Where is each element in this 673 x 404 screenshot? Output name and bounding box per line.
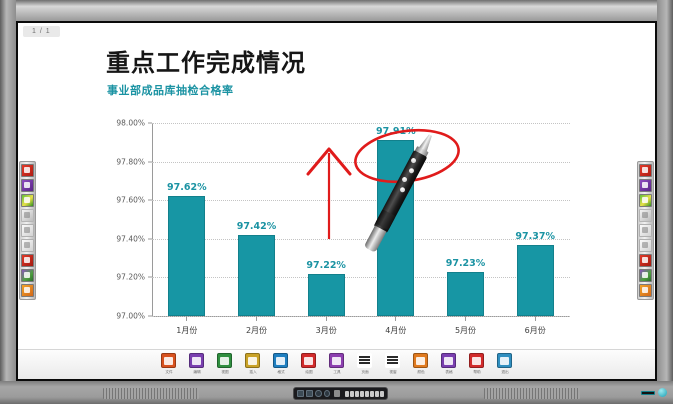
y-axis-tick-label: 97.60% bbox=[116, 196, 145, 205]
exit-menu-icon bbox=[497, 353, 512, 368]
app-bottom-toolbar[interactable]: 文件编辑视图插入格式绘图工具页面视窗颜色表格帮助退出 bbox=[18, 349, 655, 379]
table-menu[interactable]: 表格 bbox=[438, 353, 460, 375]
keyboard-tool-left[interactable] bbox=[21, 284, 34, 297]
exit-menu[interactable]: 退出 bbox=[494, 353, 516, 375]
highlighter-tool-right[interactable] bbox=[639, 179, 652, 192]
brush-tool-left[interactable] bbox=[21, 194, 34, 207]
annotation-toolbar-right[interactable] bbox=[637, 161, 654, 300]
bezel-top bbox=[0, 0, 673, 21]
x-axis-tick-label: 4月份 bbox=[361, 325, 431, 336]
bezel-left bbox=[0, 0, 16, 381]
help-menu-label: 帮助 bbox=[473, 369, 480, 375]
help-menu[interactable]: 帮助 bbox=[466, 353, 488, 375]
annotate-pen-tool-left[interactable] bbox=[21, 164, 34, 177]
page-indicator: 1 / 1 bbox=[23, 26, 60, 37]
screen-capture-tool-glyph bbox=[24, 272, 30, 278]
page-title: 重点工作完成情况 bbox=[106, 43, 306, 78]
front-control-panel[interactable] bbox=[293, 387, 388, 400]
x-axis-tick-mark bbox=[256, 316, 257, 321]
brand-bar-icon bbox=[641, 391, 655, 395]
annotate-pen-tool-right[interactable] bbox=[639, 164, 652, 177]
brush-tool-right[interactable] bbox=[639, 194, 652, 207]
tools-menu-icon bbox=[301, 353, 316, 368]
keyboard-tool-glyph bbox=[642, 287, 648, 293]
align-menu[interactable]: 页面 bbox=[354, 353, 376, 375]
view-menu[interactable]: 视图 bbox=[214, 353, 236, 375]
help-menu-icon bbox=[469, 353, 484, 368]
align-menu-icon bbox=[357, 353, 372, 368]
layout-menu[interactable]: 视窗 bbox=[382, 353, 404, 375]
eraser-tool-glyph bbox=[24, 257, 30, 263]
brush-tool-glyph bbox=[642, 197, 648, 203]
edit-menu[interactable]: 编辑 bbox=[186, 353, 208, 375]
draw-menu-label: 工具 bbox=[333, 369, 340, 375]
redo-tool-left[interactable] bbox=[21, 239, 34, 252]
bezel-right bbox=[657, 0, 673, 381]
file-menu[interactable]: 文件 bbox=[158, 353, 180, 375]
chart-bar-column: 97.42%2月份 bbox=[222, 123, 292, 316]
keyboard-tool-right[interactable] bbox=[639, 284, 652, 297]
undo-tool-glyph bbox=[642, 227, 648, 233]
bar-value-label: 97.37% bbox=[500, 231, 570, 242]
x-axis-tick-label: 6月份 bbox=[500, 325, 570, 336]
tools-menu-label: 绘图 bbox=[305, 369, 312, 375]
speaker-grille-right bbox=[484, 388, 580, 399]
usb-port-icon bbox=[297, 390, 304, 397]
chart-bar-column: 97.22%3月份 bbox=[291, 123, 361, 316]
eraser-tool-glyph bbox=[642, 257, 648, 263]
y-axis-tick-label: 97.40% bbox=[116, 234, 145, 243]
speaker-grille-left bbox=[103, 388, 199, 399]
screen-capture-tool-right[interactable] bbox=[639, 269, 652, 282]
y-axis-tick-label: 97.20% bbox=[116, 273, 145, 282]
format-menu-icon bbox=[273, 353, 288, 368]
x-axis-tick-mark bbox=[395, 316, 396, 321]
control-key-row[interactable] bbox=[345, 391, 384, 397]
format-menu-label: 格式 bbox=[277, 369, 284, 375]
chart-bar bbox=[447, 272, 484, 316]
format-menu[interactable]: 格式 bbox=[270, 353, 292, 375]
mic-jack-icon bbox=[324, 390, 330, 397]
x-axis-tick-mark bbox=[186, 316, 187, 321]
pointer-tool-right[interactable] bbox=[639, 209, 652, 222]
color-menu-icon bbox=[413, 353, 428, 368]
eraser-tool-left[interactable] bbox=[21, 254, 34, 267]
view-menu-label: 视图 bbox=[221, 369, 228, 375]
layout-menu-icon bbox=[385, 353, 400, 368]
annotation-toolbar-left[interactable] bbox=[19, 161, 36, 300]
y-axis-tick-label: 97.80% bbox=[116, 157, 145, 166]
draw-menu[interactable]: 工具 bbox=[326, 353, 348, 375]
x-axis-tick-label: 1月份 bbox=[152, 325, 222, 336]
chart-plot-area: 98.00%97.80%97.60%97.40%97.20%97.00% 97.… bbox=[152, 123, 570, 317]
edit-menu-label: 编辑 bbox=[193, 369, 200, 375]
chart-bar-column: 97.62%1月份 bbox=[152, 123, 222, 316]
highlighter-tool-glyph bbox=[24, 182, 30, 188]
color-menu[interactable]: 颜色 bbox=[410, 353, 432, 375]
file-menu-icon bbox=[161, 353, 176, 368]
keyboard-tool-glyph bbox=[24, 287, 30, 293]
chart-bar-column: 97.37%6月份 bbox=[500, 123, 570, 316]
x-axis-tick-mark bbox=[535, 316, 536, 321]
undo-tool-right[interactable] bbox=[639, 224, 652, 237]
pointer-tool-glyph bbox=[642, 212, 648, 218]
redo-tool-glyph bbox=[24, 242, 30, 248]
y-axis-tick-label: 97.00% bbox=[116, 312, 145, 321]
power-indicator-icon bbox=[658, 388, 667, 397]
redo-tool-glyph bbox=[642, 242, 648, 248]
annotate-pen-tool-glyph bbox=[24, 167, 30, 173]
x-axis-tick-mark bbox=[465, 316, 466, 321]
vga-port-icon bbox=[306, 390, 313, 397]
page-subtitle: 事业部成品库抽检合格率 bbox=[107, 82, 234, 98]
align-menu-label: 页面 bbox=[361, 369, 368, 375]
x-axis-tick-label: 5月份 bbox=[431, 325, 501, 336]
pointer-tool-glyph bbox=[24, 212, 30, 218]
redo-tool-right[interactable] bbox=[639, 239, 652, 252]
eraser-tool-right[interactable] bbox=[639, 254, 652, 267]
insert-menu-icon bbox=[245, 353, 260, 368]
table-menu-label: 表格 bbox=[445, 369, 452, 375]
x-axis-tick-mark bbox=[326, 316, 327, 321]
interactive-display-device: 1 / 1 重点工作完成情况 事业部成品库抽检合格率 98.00%97.80%9… bbox=[0, 0, 673, 404]
x-axis-tick-label: 3月份 bbox=[291, 325, 361, 336]
highlighter-tool-glyph bbox=[642, 182, 648, 188]
chart-bar bbox=[517, 245, 554, 316]
y-axis-tick-label: 98.00% bbox=[116, 119, 145, 128]
file-menu-label: 文件 bbox=[165, 369, 172, 375]
annotate-pen-tool-glyph bbox=[642, 167, 648, 173]
insert-menu-label: 插入 bbox=[249, 369, 256, 375]
exit-menu-label: 退出 bbox=[501, 369, 508, 375]
color-menu-label: 颜色 bbox=[417, 369, 424, 375]
chart-bar-column: 97.23%5月份 bbox=[431, 123, 501, 316]
chart-bar bbox=[168, 196, 205, 316]
chart-bars: 97.62%1月份97.42%2月份97.22%3月份97.91%4月份97.2… bbox=[152, 123, 570, 316]
draw-menu-icon bbox=[329, 353, 344, 368]
bar-value-label: 97.42% bbox=[222, 221, 292, 232]
screen-capture-tool-glyph bbox=[642, 272, 648, 278]
bar-chart: 98.00%97.80%97.60%97.40%97.20%97.00% 97.… bbox=[106, 115, 576, 345]
view-menu-icon bbox=[217, 353, 232, 368]
display-screen: 1 / 1 重点工作完成情况 事业部成品库抽检合格率 98.00%97.80%9… bbox=[16, 21, 657, 381]
audio-jack-icon bbox=[315, 390, 321, 397]
layout-menu-label: 视窗 bbox=[389, 369, 396, 375]
brand-badge bbox=[641, 388, 667, 397]
undo-tool-left[interactable] bbox=[21, 224, 34, 237]
screen-capture-tool-left[interactable] bbox=[21, 269, 34, 282]
edit-menu-icon bbox=[189, 353, 204, 368]
bar-value-label: 97.62% bbox=[152, 182, 222, 193]
bar-value-label: 97.23% bbox=[431, 258, 501, 269]
bar-value-label: 97.22% bbox=[291, 260, 361, 271]
presentation-slide: 1 / 1 重点工作完成情况 事业部成品库抽检合格率 98.00%97.80%9… bbox=[18, 23, 655, 379]
undo-tool-glyph bbox=[24, 227, 30, 233]
tools-menu[interactable]: 绘图 bbox=[298, 353, 320, 375]
chart-bar bbox=[238, 235, 275, 316]
insert-menu[interactable]: 插入 bbox=[242, 353, 264, 375]
brush-tool-glyph bbox=[24, 197, 30, 203]
pointer-tool-left[interactable] bbox=[21, 209, 34, 222]
table-menu-icon bbox=[441, 353, 456, 368]
chart-bar bbox=[308, 274, 345, 316]
brand-chip-icon bbox=[334, 390, 340, 397]
highlighter-tool-left[interactable] bbox=[21, 179, 34, 192]
gridline bbox=[152, 316, 570, 317]
x-axis-tick-label: 2月份 bbox=[222, 325, 292, 336]
